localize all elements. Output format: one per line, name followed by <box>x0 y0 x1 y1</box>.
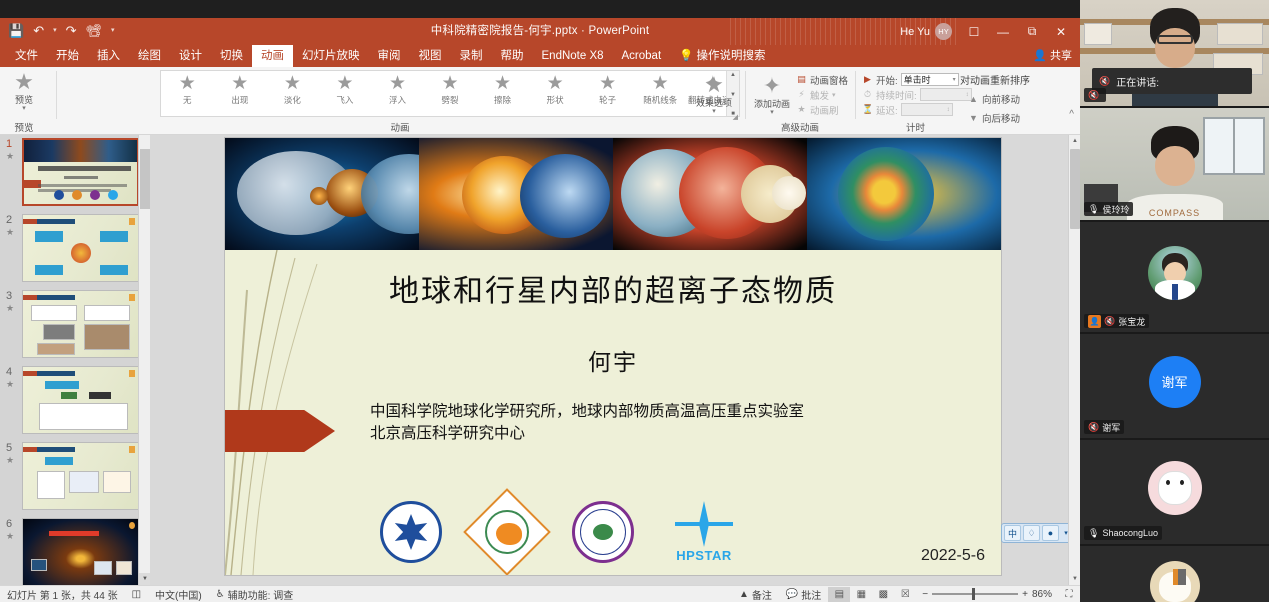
scroll-thumb[interactable] <box>1070 149 1080 229</box>
ribbon-tab-6[interactable]: 动画 <box>252 45 293 67</box>
thumbnail-scrollbar[interactable]: ▼ <box>138 135 150 585</box>
animation-indicator-icon[interactable]: ★ <box>6 303 14 314</box>
effect-label: 淡化 <box>284 94 301 106</box>
accessibility-label: 辅助功能: 调查 <box>228 587 294 602</box>
group-divider <box>56 71 57 119</box>
normal-view-icon[interactable]: ▤ <box>828 587 850 602</box>
comment-icon: 💬 <box>786 589 798 600</box>
participant-name: 张宝龙 <box>1118 315 1145 328</box>
slide-thumbnail-6[interactable]: 6★ <box>0 515 150 585</box>
ribbon-group-animation: ★无★出现★淡化★飞入★浮入★劈裂★擦除★形状★轮子★随机线条✦翻转式由远...… <box>60 67 740 135</box>
chevron-down-icon[interactable]: ▾ <box>770 109 774 116</box>
move-earlier-button[interactable]: ▲ 向前移动 <box>968 91 1020 106</box>
effect-star-icon: ★ <box>494 74 511 93</box>
participant-name: 侯玲玲 <box>1102 203 1129 216</box>
ribbon-tab-5[interactable]: 切换 <box>211 45 252 67</box>
tell-me-label: 操作说明搜索 <box>696 50 765 62</box>
add-animation-icon: ✦ <box>763 75 781 97</box>
chevron-down-icon[interactable]: ▾ <box>712 108 716 115</box>
zoom-out-button[interactable]: − <box>922 589 928 600</box>
ribbon-group-timing-label: 计时 <box>858 120 973 134</box>
effect-label: 劈裂 <box>442 94 459 106</box>
accessibility-icon: ♿ <box>216 589 225 600</box>
language-label[interactable]: 中文(中国) <box>148 587 209 602</box>
effect-label: 飞入 <box>336 94 353 106</box>
effect-label: 擦除 <box>494 94 511 106</box>
mic-muted-icon[interactable]: 🔇 <box>1088 422 1099 433</box>
thumbnail-number: 1 <box>6 138 12 150</box>
ribbon-tab-13[interactable]: Acrobat <box>613 45 671 67</box>
animation-pane-button[interactable]: ▤ 动画窗格 <box>796 72 848 87</box>
zoom-in-button[interactable]: + <box>1022 589 1028 600</box>
participant-badge: 👤🔇张宝龙 <box>1084 314 1149 328</box>
avatar <box>1150 561 1200 602</box>
start-select[interactable]: 单击时 ▾ <box>901 73 959 86</box>
shape-icon[interactable]: ♢ <box>1023 525 1040 541</box>
comments-button[interactable]: 💬 批注 <box>779 587 828 602</box>
mic-icon[interactable]: 🎙 <box>1088 204 1099 215</box>
affiliation-line-2: 北京高压科学研究中心 <box>370 423 804 445</box>
thumbnail-preview[interactable] <box>22 138 139 206</box>
ribbon-tab-1[interactable]: 开始 <box>47 45 88 67</box>
thumbnail-number: 4 <box>6 366 12 378</box>
effect-star-icon: ★ <box>652 74 669 93</box>
animation-effect-8[interactable]: ★轮子 <box>581 71 634 106</box>
reading-view-icon[interactable]: ▩ <box>872 587 894 602</box>
effect-label: 出现 <box>231 94 248 106</box>
chinese-academy-of-sciences-logo <box>380 501 442 563</box>
speaking-tooltip: 🔇正在讲话: <box>1092 68 1252 94</box>
video-tile-2[interactable]: 👤🔇张宝龙 <box>1080 222 1269 332</box>
animation-indicator-icon[interactable]: ★ <box>6 151 14 162</box>
video-conference-panel: 🔇正在讲话:🔇COMPASS🎙侯玲玲👤🔇张宝龙谢军🔇谢军🎙ShaocongLuo <box>1080 0 1269 602</box>
fit-to-window-icon[interactable]: ⛶ <box>1058 587 1080 602</box>
ribbon-tab-0[interactable]: 文件 <box>6 45 47 67</box>
thumbnail-preview[interactable] <box>22 442 139 510</box>
chinese-mode-icon[interactable]: 中 <box>1004 525 1021 541</box>
close-button[interactable]: ✕ <box>1048 21 1074 43</box>
workspace: 1★2★3★4★5★6★ ▼ <box>0 135 1080 585</box>
animation-dialog-launcher[interactable]: ◢ <box>733 113 738 121</box>
effect-options-star-icon: ★ <box>704 74 724 96</box>
duration-label: 持续时间: <box>876 88 917 102</box>
logo-row: HPSTAR <box>380 501 740 563</box>
planet-interior-sun-burst-image <box>419 138 613 250</box>
participant-badge: 🎙ShaocongLuo <box>1084 526 1162 540</box>
animation-effect-3[interactable]: ★飞入 <box>319 71 372 106</box>
ribbon-tab-7[interactable]: 幻灯片放映 <box>293 45 369 67</box>
avatar-initial: 谢军 <box>1149 356 1201 408</box>
effect-label: 轮子 <box>599 94 616 106</box>
thumbnail-preview[interactable] <box>22 518 139 585</box>
ribbon-tab-10[interactable]: 录制 <box>451 45 492 67</box>
effect-star-icon: ★ <box>389 74 406 93</box>
start-row: ▶ 开始: 单击时 ▾ <box>862 72 972 87</box>
effect-label: 形状 <box>547 94 564 106</box>
banner-image-strip <box>225 138 1001 250</box>
ribbon-animations: ★ 预览 ▾ 预览 ★无★出现★淡化★飞入★浮入★劈裂★擦除★形状★轮子★随机线… <box>0 67 1080 135</box>
mic-muted-icon[interactable]: 🔇 <box>1104 316 1115 327</box>
arrow-down-icon: ▼ <box>968 113 979 123</box>
effect-label: 随机线条 <box>643 94 677 106</box>
duration-row: ⏱ 持续时间: ↕ <box>862 87 972 102</box>
animation-effect-9[interactable]: ★随机线条 <box>634 71 687 106</box>
slide-thumbnail-5[interactable]: 5★ <box>0 439 150 515</box>
slide-title[interactable]: 地球和行星内部的超离子态物质 <box>225 266 1001 310</box>
trigger-button[interactable]: ⚡ 触发 ▾ <box>796 87 848 102</box>
ribbon-display-options-icon[interactable]: ☐ <box>961 21 987 43</box>
ribbon-tab-4[interactable]: 设计 <box>170 45 211 67</box>
animation-indicator-icon[interactable]: ★ <box>6 379 14 390</box>
host-icon: 👤 <box>1088 315 1101 328</box>
animation-indicator-icon[interactable]: ★ <box>6 455 14 466</box>
slide-sorter-icon[interactable]: ▦ <box>850 587 872 602</box>
effect-star-icon: ★ <box>336 74 353 93</box>
move-later-button[interactable]: ▼ 向后移动 <box>968 110 1020 125</box>
animation-painter-button[interactable]: ★ 动画刷 <box>796 102 848 117</box>
effect-options-label: 效果选项 <box>696 98 732 108</box>
effect-star-icon: ★ <box>179 74 196 93</box>
key-laboratory-logo <box>572 501 634 563</box>
video-tile-0[interactable]: 🔇正在讲话:🔇 <box>1080 0 1269 106</box>
notes-button[interactable]: ▲ 备注 <box>732 587 779 602</box>
mic-muted-icon: 🔇 <box>1099 76 1110 87</box>
ribbon-tab-12[interactable]: EndNote X8 <box>533 45 613 67</box>
preview-button[interactable]: ★ 预览 ▾ <box>0 67 48 112</box>
trigger-label: 触发 <box>810 88 829 102</box>
video-tile-5[interactable] <box>1080 546 1269 602</box>
slide-count-label[interactable]: 幻灯片 第 1 张，共 44 张 <box>0 587 125 602</box>
effect-label: 浮入 <box>389 94 406 106</box>
tell-me-search[interactable]: 💡操作说明搜索 <box>670 45 774 67</box>
start-value: 单击时 <box>904 74 931 85</box>
thumbnail-preview[interactable] <box>22 290 139 358</box>
ribbon-tab-3[interactable]: 绘图 <box>129 45 170 67</box>
desktop-titlebar-strip <box>0 0 1080 18</box>
effect-label: 无 <box>183 94 192 106</box>
reorder-title: 对动画重新排序 <box>960 72 1030 87</box>
delay-spinner[interactable]: ↕ <box>901 103 953 116</box>
collapse-ribbon-button[interactable]: ^ <box>1069 109 1074 120</box>
video-tile-1[interactable]: COMPASS🎙侯玲玲 <box>1080 108 1269 220</box>
add-animation-button[interactable]: ✦ 添加动画 ▾ <box>750 71 794 116</box>
ribbon-tab-bar: 文件开始插入绘图设计切换动画幻灯片放映审阅视图录制帮助EndNote X8Acr… <box>0 45 1080 67</box>
avatar[interactable]: HY <box>935 23 952 40</box>
notes-label: 备注 <box>752 587 772 602</box>
chevron-down-icon[interactable]: ▾ <box>22 105 26 112</box>
thumbnail-number: 6 <box>6 518 12 530</box>
accessibility-status[interactable]: ♿ 辅助功能: 调查 <box>209 587 301 602</box>
preview-star-icon: ★ <box>14 71 34 93</box>
powerpoint-window: 💾 ↶ ▾ ↷ 📽 ▾ 中科院精密院报告-何宇.pptx · PowerPoin… <box>0 0 1080 602</box>
participant-badge: 🔇谢军 <box>1084 420 1124 434</box>
arrow-up-icon: ▲ <box>968 94 979 104</box>
animation-effect-4[interactable]: ★浮入 <box>371 71 424 106</box>
zoom-slider-handle[interactable] <box>972 588 975 600</box>
animation-painter-label: 动画刷 <box>810 103 839 117</box>
reorder-animation-block: 对动画重新排序 ▲ 向前移动 ▼ 向后移动 <box>958 67 1068 135</box>
zoom-slider[interactable] <box>932 593 1018 595</box>
move-earlier-label: 向前移动 <box>982 92 1020 106</box>
slide-pane-scrollbar[interactable]: ▲ ▼ <box>1068 135 1080 585</box>
institute-of-geochemistry-logo <box>463 488 551 575</box>
slide-layout-icon[interactable]: ◫ <box>125 589 148 600</box>
quick-access-toolbar: 💾 ↶ ▾ ↷ 📽 ▾ 中科院精密院报告-何宇.pptx · PowerPoin… <box>0 18 1080 45</box>
effect-star-icon: ★ <box>441 74 458 93</box>
delay-clock-icon: ⏳ <box>862 104 873 115</box>
ribbon-group-animation-label: 动画 <box>100 120 700 134</box>
effect-star-icon: ★ <box>284 74 301 93</box>
delay-label: 延迟: <box>876 103 898 117</box>
animation-pane-label: 动画窗格 <box>810 73 848 87</box>
zoom-control[interactable]: − + 86% <box>916 589 1058 600</box>
avatar <box>1148 246 1202 300</box>
participant-name: 谢军 <box>1102 421 1120 434</box>
animation-pane-icon: ▤ <box>796 74 807 85</box>
participant-badge: 🔇 <box>1084 88 1106 102</box>
mic-muted-icon[interactable]: 🔇 <box>1088 90 1099 101</box>
share-button[interactable]: 👤 共享 <box>1033 45 1072 67</box>
slide-thumbnail-2[interactable]: 2★ <box>0 211 150 287</box>
effect-star-icon: ★ <box>231 74 248 93</box>
thumbnail-scroll-thumb[interactable] <box>140 149 150 209</box>
participant-badge: 🎙侯玲玲 <box>1084 202 1133 216</box>
video-tile-4[interactable]: 🎙ShaocongLuo <box>1080 440 1269 544</box>
ribbon-group-preview-label: 预览 <box>0 120 48 134</box>
preview-button-label: 预览 <box>15 95 33 105</box>
mic-icon[interactable]: 🎙 <box>1088 528 1099 539</box>
animation-effect-1[interactable]: ★出现 <box>214 71 267 106</box>
status-bar: 幻灯片 第 1 张，共 44 张 ◫ 中文(中国) ♿ 辅助功能: 调查 ▲ 备… <box>0 585 1080 602</box>
trigger-icon: ⚡ <box>796 89 807 100</box>
hpstar-label: HPSTAR <box>668 548 740 563</box>
notes-icon: ▲ <box>739 589 749 600</box>
animation-effect-7[interactable]: ★形状 <box>529 71 582 106</box>
affiliation-line-1: 中国科学院地球化学研究所，地球内部物质高温高压重点实验室 <box>370 401 804 423</box>
ime-floating-toolbar[interactable]: 中 ♢ ● ▾ <box>1001 523 1074 543</box>
ribbon-group-timing: ▶ 开始: 单击时 ▾ ⏱ 持续时间: ↕ <box>858 67 973 135</box>
speaking-tooltip-label: 正在讲话: <box>1116 74 1159 89</box>
slide-thumbnail-3[interactable]: 3★ <box>0 287 150 363</box>
participant-name: ShaocongLuo <box>1102 528 1158 538</box>
ribbon-tab-11[interactable]: 帮助 <box>492 45 533 67</box>
delay-row: ⏳ 延迟: ↕ <box>862 102 972 117</box>
ribbon-tab-8[interactable]: 审阅 <box>369 45 410 67</box>
slide-thumbnail-1[interactable]: 1★ <box>0 135 150 211</box>
earth-magnetosphere-diagram-image <box>807 138 1001 250</box>
animation-effect-2[interactable]: ★淡化 <box>266 71 319 106</box>
start-label: 开始: <box>876 73 898 87</box>
thumbnail-preview[interactable] <box>22 366 139 434</box>
play-icon: ▶ <box>862 74 873 85</box>
zoom-level-label[interactable]: 86% <box>1032 589 1052 600</box>
lightbulb-icon: 💡 <box>679 50 693 62</box>
effect-star-icon: ★ <box>547 74 564 93</box>
thumbnail-number: 5 <box>6 442 12 454</box>
avatar <box>1148 461 1202 515</box>
slide-affiliation[interactable]: 中国科学院地球化学研究所，地球内部物质高温高压重点实验室 北京高压科学研究中心 <box>370 401 804 445</box>
earth-interior-layers-image <box>613 138 807 250</box>
add-animation-label: 添加动画 <box>754 99 790 109</box>
ribbon-tab-9[interactable]: 视图 <box>410 45 451 67</box>
group-divider <box>745 71 746 119</box>
ribbon-tab-2[interactable]: 插入 <box>88 45 129 67</box>
video-tile-3[interactable]: 谢军🔇谢军 <box>1080 334 1269 438</box>
clock-icon: ⏱ <box>862 89 873 100</box>
thumbnail-number: 2 <box>6 214 12 226</box>
toolbox-icon[interactable]: ● <box>1042 525 1059 541</box>
animation-indicator-icon[interactable]: ★ <box>6 227 14 238</box>
slide-editing-pane: 地球和行星内部的超离子态物质 何宇 中国科学院地球化学研究所，地球内部物质高温高… <box>150 135 1080 585</box>
share-label: 共享 <box>1050 50 1072 62</box>
ribbon-group-advanced-label: 高级动画 <box>750 120 850 134</box>
chevron-down-icon[interactable]: ▾ <box>832 91 836 99</box>
animation-effect-6[interactable]: ★擦除 <box>476 71 529 106</box>
slide-thumbnail-pane[interactable]: 1★2★3★4★5★6★ <box>0 135 150 585</box>
planet-interior-blue-icy-image <box>225 138 419 250</box>
animation-effect-5[interactable]: ★劈裂 <box>424 71 477 106</box>
minimize-button[interactable]: — <box>990 21 1016 43</box>
comments-label: 批注 <box>801 587 821 602</box>
slide-author[interactable]: 何宇 <box>225 343 1001 377</box>
user-name: He Yu <box>900 26 930 38</box>
thumbnail-number: 3 <box>6 290 12 302</box>
effect-options-button[interactable]: ★ 效果选项 ▾ <box>690 70 738 115</box>
animation-painter-icon: ★ <box>796 104 807 115</box>
animation-gallery[interactable]: ★无★出现★淡化★飞入★浮入★劈裂★擦除★形状★轮子★随机线条✦翻转式由远...… <box>160 70 740 117</box>
current-slide[interactable]: 地球和行星内部的超离子态物质 何宇 中国科学院地球化学研究所，地球内部物质高温高… <box>225 138 1001 575</box>
ribbon-group-preview: ★ 预览 ▾ 预览 <box>0 67 48 135</box>
thumbnail-preview[interactable] <box>22 214 139 282</box>
slide-date[interactable]: 2022-5-6 <box>921 547 985 565</box>
hpstar-logo: HPSTAR <box>668 501 740 563</box>
group-divider <box>855 71 856 119</box>
move-later-label: 向后移动 <box>982 111 1020 125</box>
slideshow-icon[interactable]: ☒ <box>894 587 916 602</box>
effect-star-icon: ★ <box>599 74 616 93</box>
animation-indicator-icon[interactable]: ★ <box>6 531 14 542</box>
ribbon-group-advanced-animation: ✦ 添加动画 ▾ ▤ 动画窗格 ⚡ 触发 ▾ ★ <box>750 67 850 135</box>
animation-effect-0[interactable]: ★无 <box>161 71 214 106</box>
chevron-down-icon[interactable]: ▾ <box>953 74 958 85</box>
restore-button[interactable]: ⧉ <box>1019 21 1045 43</box>
slide-thumbnail-4[interactable]: 4★ <box>0 363 150 439</box>
